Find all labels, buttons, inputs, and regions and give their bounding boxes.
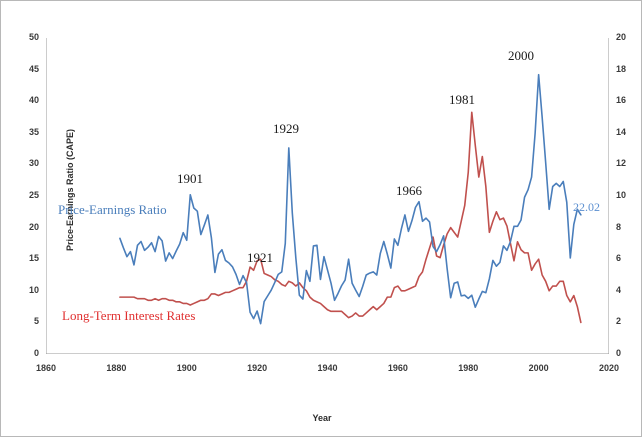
annotation-1921: 1921	[247, 250, 273, 266]
axis-tick-label: 6	[616, 253, 642, 263]
axis-tick-label: 20	[13, 222, 39, 232]
series-label-price-earnings-ratio: Price-Earnings Ratio	[58, 202, 167, 218]
axis-tick-label: 0	[13, 348, 39, 358]
axis-tick-label: 16	[616, 95, 642, 105]
axis-tick-label: 18	[616, 64, 642, 74]
chart-frame: Price-Earnings Ratio (CAPE) Long-Term In…	[0, 0, 642, 437]
axis-tick-label: 2020	[589, 363, 629, 373]
axis-tick-label: 1860	[26, 363, 66, 373]
axis-tick-label: 0	[616, 348, 642, 358]
annotation-1929: 1929	[273, 121, 299, 137]
axis-tick-label: 1900	[167, 363, 207, 373]
annotation-end-value: 22.02	[573, 200, 600, 215]
axis-tick-label: 1880	[96, 363, 136, 373]
axis-tick-label: 1980	[448, 363, 488, 373]
axis-tick-label: 30	[13, 158, 39, 168]
axis-tick-label: 1940	[308, 363, 348, 373]
annotation-2000: 2000	[508, 48, 534, 64]
axis-tick-label: 10	[13, 285, 39, 295]
axis-tick-label: 45	[13, 64, 39, 74]
axis-tick-label: 14	[616, 127, 642, 137]
axis-tick-label: 1920	[237, 363, 277, 373]
y-axis-left-title: Price-Earnings Ratio (CAPE)	[65, 131, 75, 251]
axis-tick-label: 10	[616, 190, 642, 200]
axis-tick-label: 12	[616, 158, 642, 168]
axis-tick-label: 8	[616, 222, 642, 232]
series-label-long-term-interest-rates: Long-Term Interest Rates	[62, 308, 195, 324]
axis-tick-label: 2000	[519, 363, 559, 373]
chart-canvas	[46, 38, 609, 354]
series-line-price-earnings-ratio	[120, 75, 581, 324]
axis-tick-label: 1960	[378, 363, 418, 373]
axis-tick-label: 4	[616, 285, 642, 295]
axis-tick-label: 20	[616, 32, 642, 42]
axis-tick-label: 2	[616, 316, 642, 326]
x-axis-title: Year	[1, 413, 642, 423]
axis-tick-label: 15	[13, 253, 39, 263]
axis-tick-label: 25	[13, 190, 39, 200]
annotation-1901: 1901	[177, 171, 203, 187]
annotation-1966: 1966	[396, 183, 422, 199]
plot-area: Price-Earnings Ratio (CAPE) Long-Term In…	[46, 38, 609, 354]
axis-tick-label: 5	[13, 316, 39, 326]
axis-tick-label: 40	[13, 95, 39, 105]
axis-tick-label: 50	[13, 32, 39, 42]
annotation-1981: 1981	[449, 92, 475, 108]
axis-tick-label: 35	[13, 127, 39, 137]
